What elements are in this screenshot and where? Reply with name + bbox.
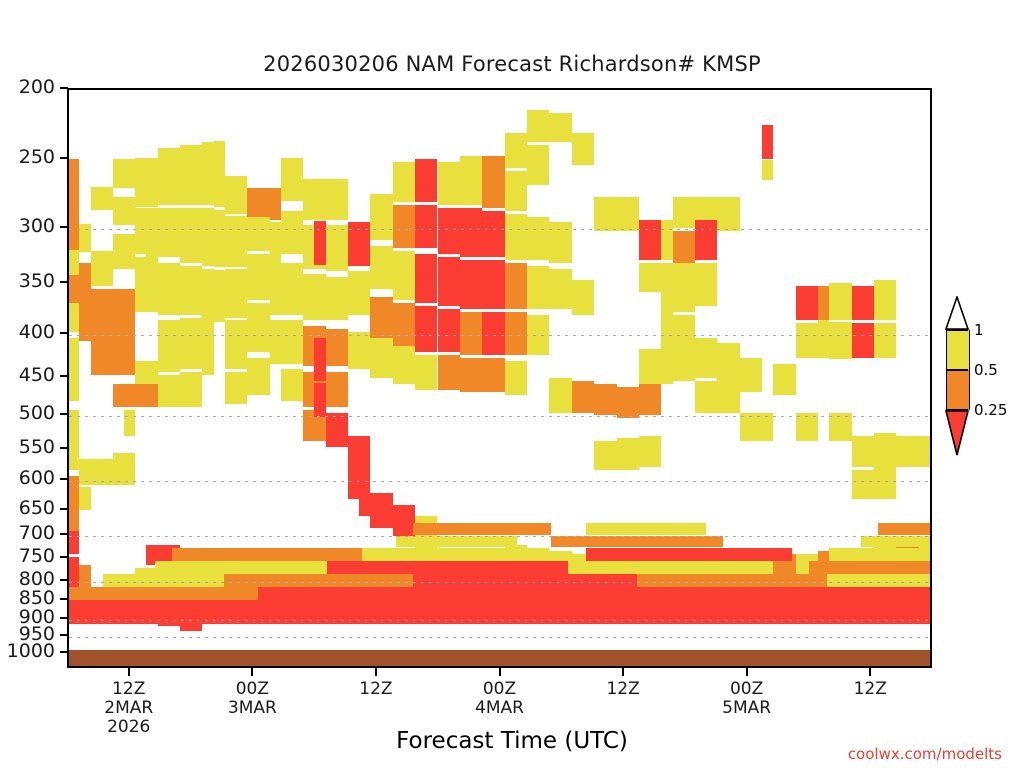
x-axis-tick-line: 00Z (440, 680, 560, 699)
x-axis-tick-line: 5MAR (687, 699, 807, 718)
y-axis-tick (60, 598, 68, 600)
colorbar-under-arrow (944, 410, 970, 456)
colorbar-legend: 10.50.25 (938, 296, 1018, 476)
y-axis-tick-label: 400 (0, 323, 55, 342)
y-axis-tick-label: 200 (0, 78, 55, 97)
x-axis-tick-label: 00Z4MAR (440, 680, 560, 718)
gridline (69, 637, 930, 638)
page-title: 2026030206 NAM Forecast Richardson# KMSP (0, 52, 1024, 76)
y-axis-tick (60, 651, 68, 653)
y-axis-tick (60, 556, 68, 558)
x-axis-tick-label: 12Z (563, 680, 683, 699)
y-axis-tick-label: 650 (0, 499, 55, 518)
colorbar-tick (946, 369, 968, 371)
gridline (69, 229, 930, 230)
x-axis-tick (375, 668, 377, 676)
x-axis-tick (869, 668, 871, 676)
x-axis-tick-line: 3MAR (192, 699, 312, 718)
y-axis-tick (60, 579, 68, 581)
plot-clip (69, 90, 930, 666)
y-axis-tick (60, 332, 68, 334)
colorbar-tick-label: 1 (974, 323, 984, 338)
y-axis-tick-label: 1000 (0, 642, 55, 661)
x-axis-tick-line: 12Z (69, 680, 189, 699)
x-axis-tick (128, 668, 130, 676)
gridline (69, 536, 930, 537)
y-axis-tick (60, 413, 68, 415)
x-axis-tick-line: 2MAR (69, 699, 189, 718)
y-axis-tick-label: 250 (0, 148, 55, 167)
x-axis-tick-line: 00Z (687, 680, 807, 699)
y-axis-tick (60, 157, 68, 159)
y-axis-tick-label: 600 (0, 469, 55, 488)
gridline (69, 416, 930, 417)
y-axis-tick (60, 508, 68, 510)
x-axis-tick-line: 00Z (192, 680, 312, 699)
y-axis-tick (60, 478, 68, 480)
colorbar-over-arrow (944, 296, 970, 330)
gridlines (69, 90, 930, 666)
y-axis-tick-label: 300 (0, 217, 55, 236)
x-axis-tick-line: 12Z (316, 680, 436, 699)
y-axis-tick (60, 375, 68, 377)
plot-area (67, 88, 932, 668)
y-axis-tick (60, 634, 68, 636)
colorbar-tick (946, 329, 968, 331)
ground-band (69, 650, 930, 666)
y-axis-tick (60, 226, 68, 228)
y-axis-tick-label: 700 (0, 524, 55, 543)
x-axis-tick-label: 00Z5MAR (687, 680, 807, 718)
y-axis-tick-label: 800 (0, 570, 55, 589)
x-axis-tick (499, 668, 501, 676)
x-axis-tick-label: 12Z (316, 680, 436, 699)
y-axis-tick-label: 500 (0, 404, 55, 423)
x-axis-tick-line: 12Z (563, 680, 683, 699)
y-axis-tick (60, 447, 68, 449)
y-axis-tick (60, 617, 68, 619)
x-axis-tick (746, 668, 748, 676)
x-axis-tick (251, 668, 253, 676)
x-axis-tick-label: 00Z3MAR (192, 680, 312, 718)
y-axis-tick-label: 450 (0, 366, 55, 385)
gridline (69, 335, 930, 336)
gridline (69, 481, 930, 482)
x-axis-tick-line: 12Z (810, 680, 930, 699)
colorbar-band (946, 370, 970, 410)
chart-canvas: 2026030206 NAM Forecast Richardson# KMSP… (0, 0, 1024, 768)
y-axis-tick-label: 750 (0, 547, 55, 566)
colorbar-band (946, 330, 970, 370)
colorbar-tick-label: 0.25 (974, 403, 1007, 418)
y-axis-tick (60, 87, 68, 89)
x-axis-tick (622, 668, 624, 676)
y-axis-tick-label: 550 (0, 438, 55, 457)
x-axis-tick-line: 4MAR (440, 699, 560, 718)
gridline (69, 620, 930, 621)
colorbar-tick-label: 0.5 (974, 363, 998, 378)
y-axis-tick-label: 850 (0, 589, 55, 608)
x-axis-tick-label: 12Z (810, 680, 930, 699)
watermark: coolwx.com/modelts (848, 745, 1002, 763)
y-axis-tick-label: 350 (0, 272, 55, 291)
gridline (69, 582, 930, 583)
y-axis-tick (60, 533, 68, 535)
y-axis-tick (60, 281, 68, 283)
